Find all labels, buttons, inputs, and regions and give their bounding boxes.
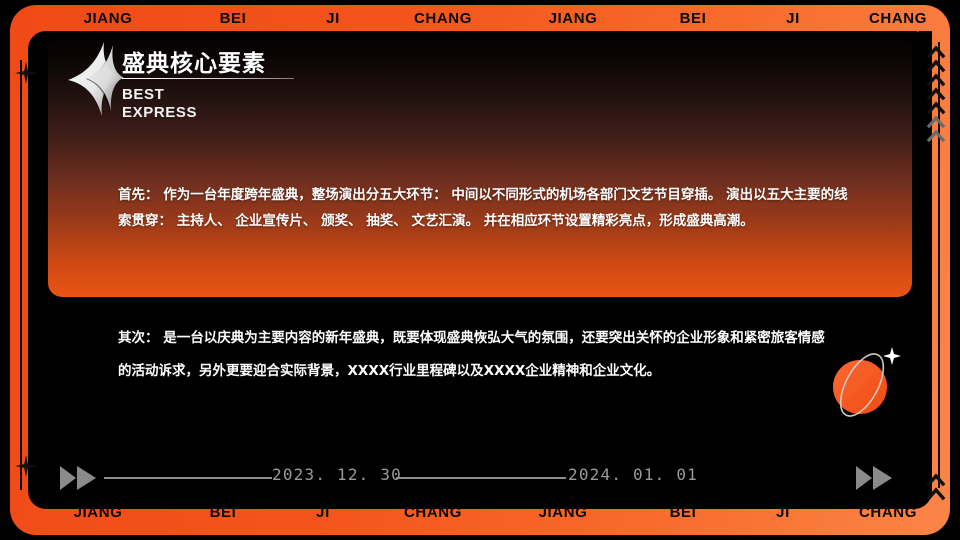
chevron-up-icon bbox=[925, 42, 947, 142]
page-title: 盛典核心要素 bbox=[122, 44, 266, 78]
marquee-word: JIANG bbox=[38, 10, 178, 27]
brand-line-2: EXPRESS bbox=[122, 104, 197, 122]
timeline-date-end: 2024. 01. 01 bbox=[568, 465, 698, 484]
planet-orbit-icon bbox=[808, 335, 916, 435]
chevron-up-icon bbox=[925, 470, 947, 504]
title-underline bbox=[122, 78, 294, 79]
fast-forward-icon bbox=[856, 465, 900, 491]
marquee-word: BEI bbox=[168, 504, 278, 521]
marquee-word: BEI bbox=[628, 504, 738, 521]
brand-name: BEST EXPRESS bbox=[122, 86, 197, 123]
marquee-word: JI bbox=[748, 10, 838, 27]
marquee-word: JI bbox=[738, 504, 828, 521]
marquee-word: JI bbox=[278, 504, 368, 521]
marquee-word: CHANG bbox=[838, 10, 958, 27]
brand-logo: 盛典核心要素 BEST EXPRESS bbox=[66, 38, 396, 138]
marquee-word: JIANG bbox=[508, 10, 638, 27]
slide-canvas: JIANG BEI JI CHANG JIANG BEI JI CHANG JI… bbox=[0, 0, 960, 540]
marquee-top: JIANG BEI JI CHANG JIANG BEI JI CHANG bbox=[0, 5, 940, 31]
marquee-word: CHANG bbox=[378, 10, 508, 27]
four-point-star-icon bbox=[15, 62, 37, 84]
frame-hairline-left bbox=[20, 60, 22, 490]
timeline-date-start: 2023. 12. 30 bbox=[272, 465, 402, 484]
date-timeline: 2023. 12. 30 2024. 01. 01 bbox=[60, 455, 900, 501]
paragraph-secondary: 其次： 是一台以庆典为主要内容的新年盛典，既要体现盛典恢弘大气的氛围，还要突出关… bbox=[118, 322, 838, 388]
marquee-word: CHANG bbox=[828, 504, 948, 521]
marquee-bottom: JIANG BEI JI CHANG JIANG BEI JI CHANG bbox=[0, 499, 940, 525]
fast-forward-icon bbox=[60, 465, 104, 491]
paragraph-primary: 首先： 作为一台年度跨年盛典，整场演出分五大环节： 中间以不同形式的机场各部门文… bbox=[118, 182, 858, 235]
marquee-word: BEI bbox=[638, 10, 748, 27]
four-point-star-icon bbox=[15, 455, 37, 477]
marquee-word: JIANG bbox=[498, 504, 628, 521]
marquee-word: CHANG bbox=[368, 504, 498, 521]
marquee-word: JIANG bbox=[28, 504, 168, 521]
timeline-segment-mid bbox=[396, 477, 566, 479]
sparkle-star-icon bbox=[66, 40, 124, 118]
marquee-word: BEI bbox=[178, 10, 288, 27]
timeline-segment-left bbox=[104, 477, 272, 479]
brand-line-1: BEST bbox=[122, 86, 197, 104]
marquee-word: JI bbox=[288, 10, 378, 27]
